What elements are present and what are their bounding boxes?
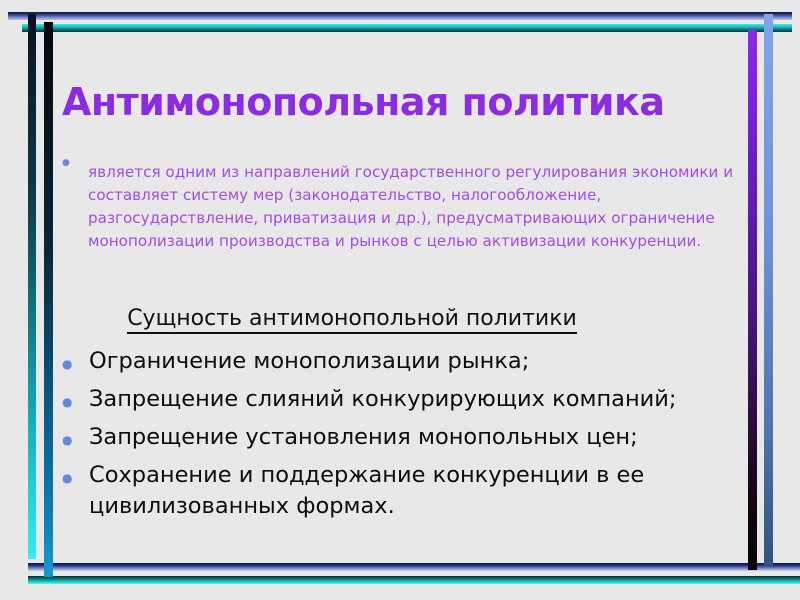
right-blue-border-bar	[764, 14, 773, 566]
right-purple-border-bar	[748, 30, 757, 570]
intro-paragraph-text: является одним из направлений государств…	[88, 161, 738, 253]
top-teal-border-bar	[22, 24, 792, 32]
list-item-label: Запрещение слияний конкурирующих компани…	[89, 384, 738, 415]
bullet-icon	[62, 346, 89, 371]
list-item: Запрещение слияний конкурирующих компани…	[62, 384, 738, 415]
section-heading: Сущность антимонопольной политики	[62, 304, 738, 334]
intro-paragraph: является одним из направлений государств…	[62, 146, 738, 268]
list-item: Ограничение монополизации рынка;	[62, 346, 738, 377]
list-item: Сохранение и поддержание конкуренции в е…	[62, 460, 738, 522]
left-dark-border-bar	[44, 22, 53, 577]
bullet-icon	[62, 146, 88, 268]
list-item: Запрещение установления монопольных цен;	[62, 422, 738, 453]
slide-content: Антимонопольная политика является одним …	[62, 78, 738, 522]
bullet-icon	[62, 384, 89, 409]
list-item-label: Запрещение установления монопольных цен;	[89, 422, 738, 453]
bottom-teal-border-bar	[28, 576, 800, 584]
section-heading-text: Сущность антимонопольной политики	[127, 306, 577, 334]
slide-title: Антимонопольная политика	[62, 78, 738, 126]
bullet-icon	[62, 422, 89, 447]
points-list: Ограничение монополизации рынка; Запреще…	[62, 346, 738, 522]
left-cyan-border-bar	[28, 14, 36, 559]
list-item-label: Ограничение монополизации рынка;	[89, 346, 738, 377]
top-blue-border-bar	[8, 12, 792, 20]
bullet-icon	[62, 460, 89, 485]
list-item-label: Сохранение и поддержание конкуренции в е…	[89, 460, 738, 522]
presentation-slide: Антимонопольная политика является одним …	[0, 0, 800, 600]
bottom-blue-border-bar	[28, 563, 800, 571]
